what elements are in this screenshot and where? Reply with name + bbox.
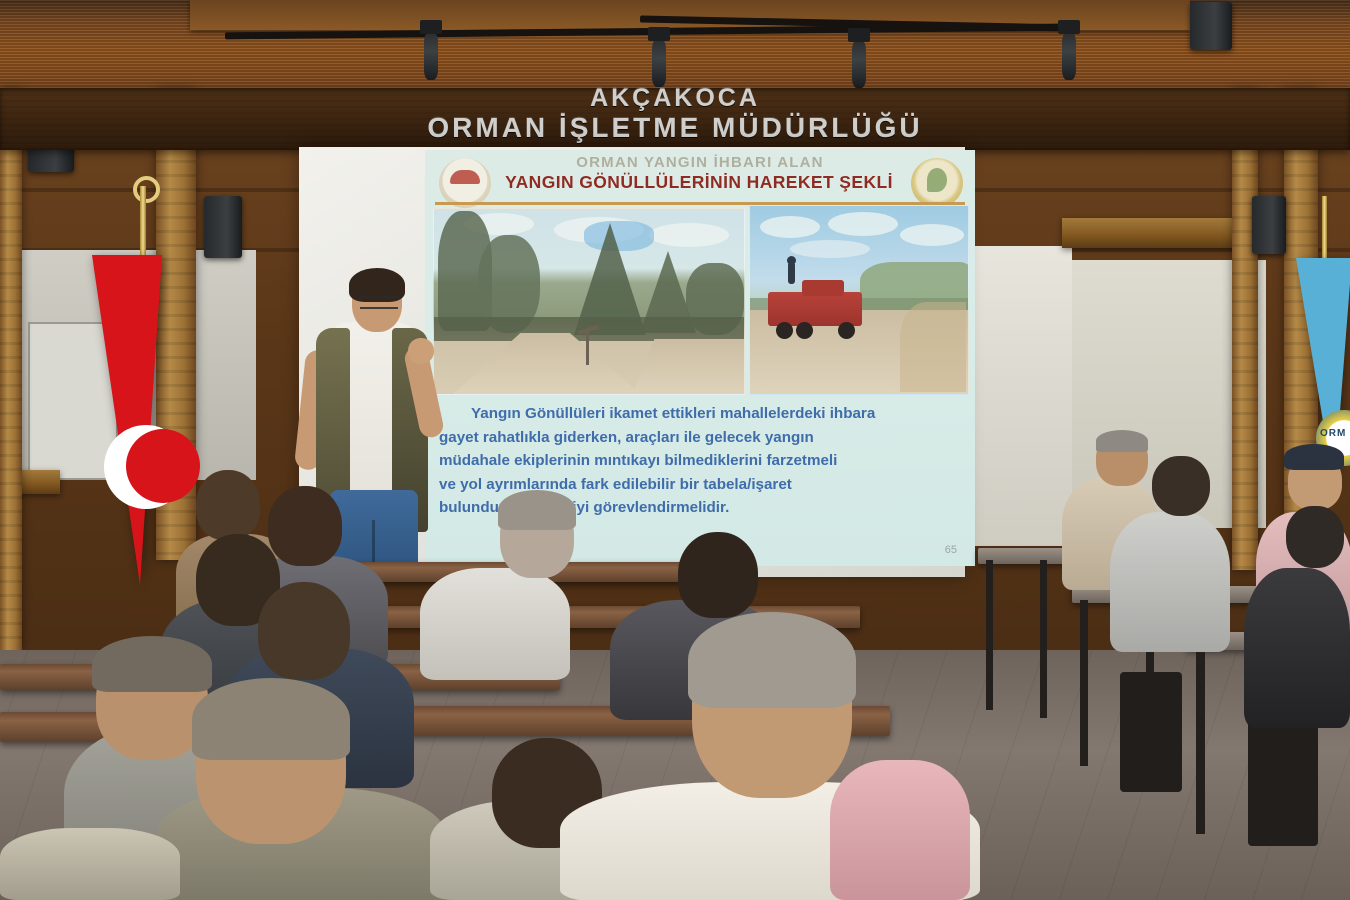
- red-fire-truck-photo: [749, 205, 969, 395]
- track-light-icon: [852, 40, 866, 88]
- slide-title: YANGIN GÖNÜLLÜLERİNİN HAREKET ŞEKLİ: [485, 172, 913, 193]
- slide-body-line: gayet rahatlıkla giderken, araçları ile …: [439, 426, 965, 450]
- audience-hair: [192, 678, 350, 760]
- venue-name-line1: AKÇAKOCA: [0, 84, 1350, 113]
- desk-leg: [986, 560, 993, 710]
- chair: [1120, 672, 1182, 792]
- crescent-icon: [104, 425, 188, 509]
- eyeglasses-icon: [360, 296, 398, 309]
- audience-hair: [92, 636, 212, 692]
- audience-torso: [420, 568, 570, 680]
- audience-torso: [0, 828, 180, 900]
- track-light-icon: [1062, 32, 1076, 80]
- audience-torso: [830, 760, 970, 900]
- audience-hair: [498, 490, 576, 530]
- audience-torso: [1110, 512, 1230, 652]
- audience-hair: [688, 612, 856, 708]
- desk-leg: [1196, 646, 1205, 834]
- wall-panel-center-right: [968, 246, 1072, 546]
- forest-dirt-road-photo: [433, 208, 745, 395]
- audience-head: [258, 582, 350, 680]
- track-light-icon: [652, 39, 666, 87]
- desk-leg: [1040, 560, 1047, 718]
- audience-head: [196, 470, 260, 540]
- audience-head: [268, 486, 342, 566]
- audience-hair: [1096, 430, 1148, 452]
- flag-pole-secondary: [1322, 196, 1327, 262]
- presenter-hand: [408, 338, 434, 364]
- audience-torso: [1244, 568, 1350, 728]
- turkish-flag: [92, 255, 162, 585]
- slide-body-line: müdahale ekiplerinin mıntıkayı bilmedikl…: [439, 449, 965, 473]
- slide-body-line: Yangın Gönüllüleri ikamet ettikleri maha…: [439, 402, 965, 426]
- slide-page-number: 65: [945, 544, 957, 556]
- flag-pole: [140, 186, 146, 262]
- wood-post: [1232, 90, 1258, 570]
- seminar-room-photo: AKÇAKOCA ORMAN İŞLETME MÜDÜRLÜĞÜ ORMAN Y…: [0, 0, 1350, 900]
- wall-speaker: [204, 196, 242, 258]
- ogm-seal-label: ORM: [1320, 428, 1346, 439]
- wall-speaker: [1252, 196, 1286, 254]
- audience-head: [678, 532, 758, 618]
- slide-ghost-heading: ORMAN YANGIN İHBARI ALAN: [425, 154, 975, 171]
- wood-post: [0, 90, 22, 650]
- audience-head: [1286, 506, 1344, 568]
- flag-finial-icon: [133, 176, 160, 203]
- cap-icon: [1284, 444, 1344, 470]
- track-light-icon: [424, 32, 438, 80]
- audience-head: [1152, 456, 1210, 516]
- wall-speaker: [1190, 2, 1232, 50]
- desk-leg: [1080, 600, 1088, 766]
- venue-name-line2: ORMAN İŞLETME MÜDÜRLÜĞÜ: [0, 112, 1350, 144]
